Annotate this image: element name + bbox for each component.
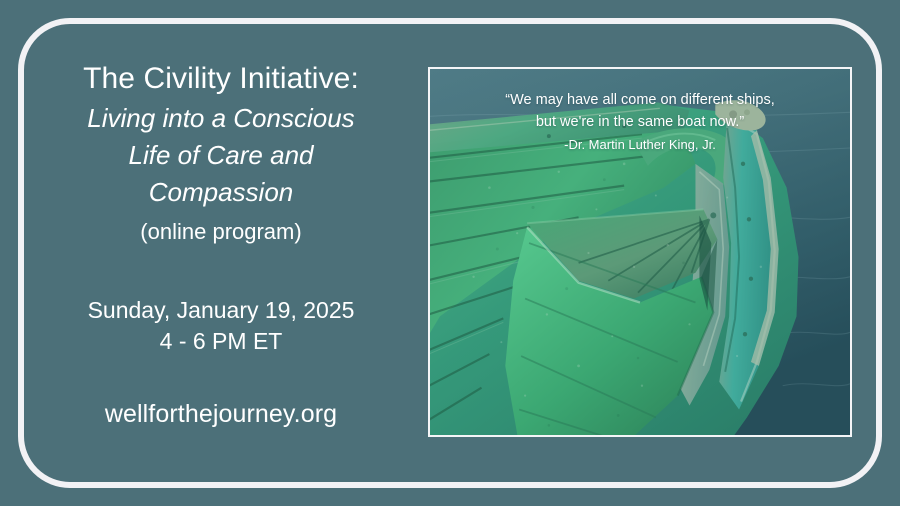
quote-overlay: “We may have all come on different ships…: [430, 90, 850, 155]
title-block: The Civility Initiative: Living into a C…: [40, 60, 402, 248]
subtitle-line-3: Compassion: [40, 174, 402, 211]
quote-line-2: but we're in the same boat now.”: [430, 112, 850, 134]
event-time: 4 - 6 PM ET: [40, 326, 402, 357]
page-title: The Civility Initiative:: [40, 60, 402, 98]
website-url[interactable]: wellforthejourney.org: [40, 400, 402, 429]
quote-line-1: “We may have all come on different ships…: [430, 90, 850, 112]
quote-attribution: -Dr. Martin Luther King, Jr.: [430, 135, 850, 156]
program-modality-label: (online program): [40, 217, 402, 248]
subtitle-line-1: Living into a Conscious: [40, 100, 402, 137]
event-datetime-block: Sunday, January 19, 2025 4 - 6 PM ET: [40, 295, 402, 357]
poster-canvas: The Civility Initiative: Living into a C…: [0, 0, 900, 506]
subtitle-line-2: Life of Care and: [40, 137, 402, 174]
event-date: Sunday, January 19, 2025: [40, 295, 402, 326]
photo-panel: “We may have all come on different ships…: [428, 67, 852, 437]
